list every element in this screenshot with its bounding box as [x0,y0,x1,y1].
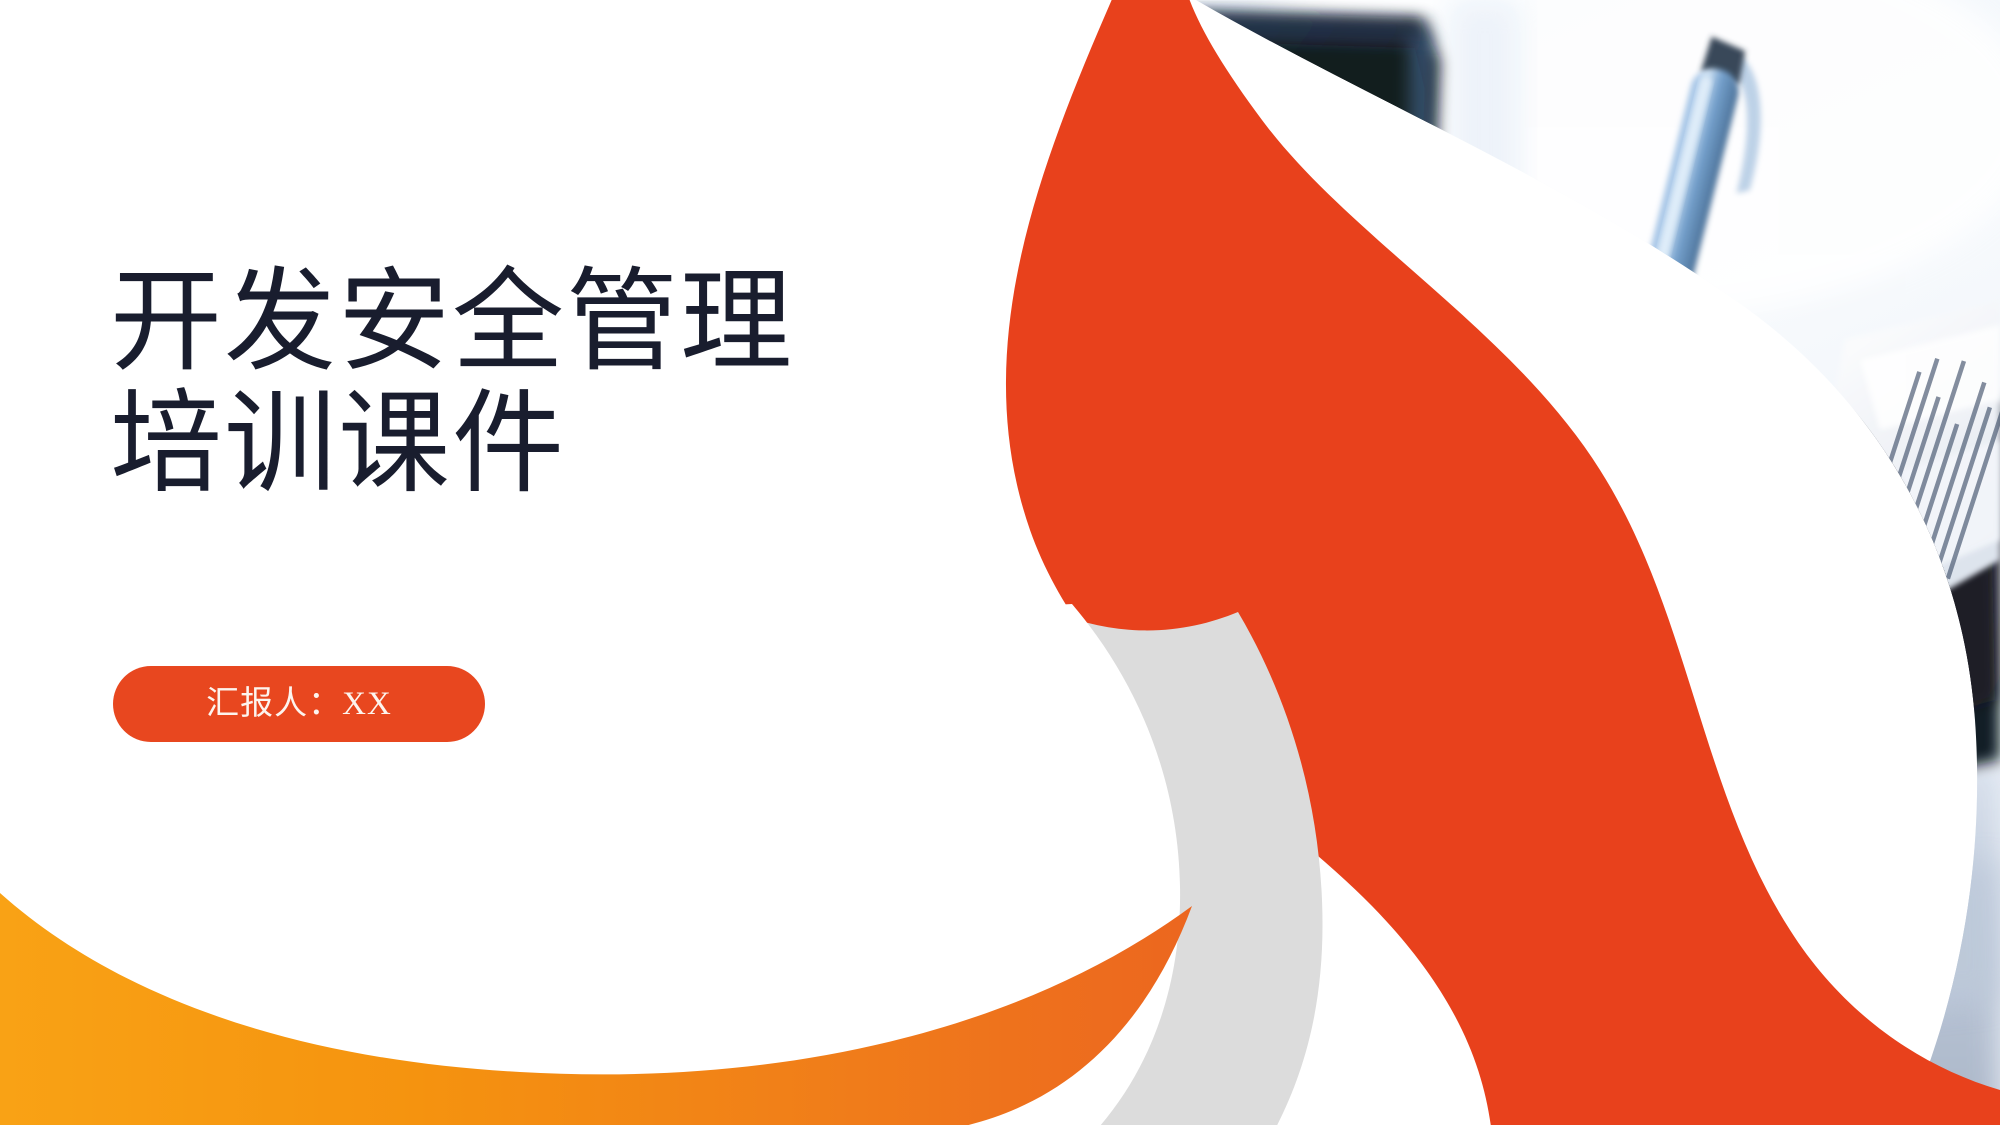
title-line-1: 开发安全管理 [110,262,870,384]
page-title: 开发安全管理 培训课件 [110,262,870,506]
title-slide: 开发安全管理 培训课件 汇报人：XX [0,0,2000,1125]
slide-background-artwork [0,0,2000,1125]
presenter-badge[interactable]: 汇报人：XX [113,666,485,742]
title-line-2: 培训课件 [110,384,870,506]
presenter-badge-label: 汇报人：XX [206,688,392,721]
